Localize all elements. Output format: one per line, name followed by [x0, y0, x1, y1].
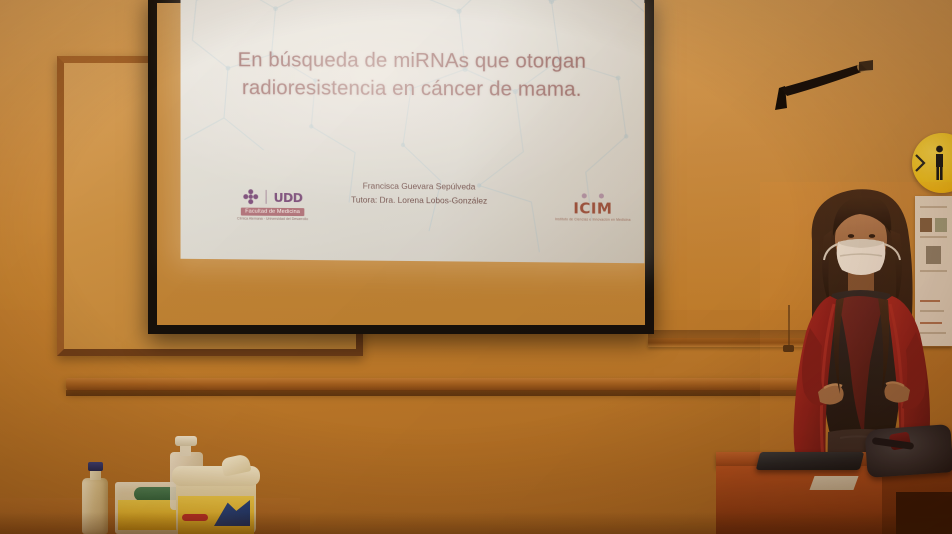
icim-subtitle: Instituto de Ciencias e Innovación en Me… — [555, 217, 631, 222]
icim-logo: ICIM Instituto de Ciencias e Innovación … — [562, 184, 625, 231]
backpack — [864, 424, 952, 478]
projector-screen: En búsqueda de miRNAs que otorgan radior… — [148, 0, 654, 334]
udd-wordmark: UDD — [273, 189, 302, 204]
sanitizer-pump-head — [175, 436, 197, 446]
udd-logo: UDD Facultad de Medicina Clínica Alemana… — [220, 184, 325, 227]
water-bottle-cap — [88, 462, 103, 471]
wipes-label-stripe — [182, 514, 208, 521]
projected-slide: En búsqueda de miRNAs que otorgan radior… — [181, 0, 645, 263]
icim-wordmark: ICIM — [573, 199, 612, 217]
closed-laptop — [756, 452, 864, 470]
udd-logo-row: UDD — [243, 189, 303, 205]
whiteboard-tray-edge — [66, 390, 806, 396]
udd-subtitle: Clínica Alemana · Universidad del Desarr… — [237, 217, 308, 222]
slide-credits: Francisca Guevara Sepúlveda Tutora: Dra.… — [299, 178, 539, 208]
icim-dot-right — [599, 193, 604, 198]
podium-front — [716, 466, 884, 534]
slide-title-line-2: radioresistencia en cáncer de mama. — [242, 76, 582, 101]
evacuation-person-icon — [933, 145, 946, 181]
slide-title-line-1: En búsqueda de miRNAs que otorgan — [238, 48, 587, 72]
arrow-right-icon — [914, 153, 926, 173]
slide-title: En búsqueda de miRNAs que otorgan radior… — [214, 46, 610, 104]
water-bottle — [82, 478, 108, 534]
paper-sheet — [809, 476, 858, 490]
udd-faculty-band: Facultad de Medicina — [241, 208, 304, 216]
icim-dot-left — [582, 193, 587, 198]
projector-mount-bracket-icon — [769, 58, 877, 118]
icim-dots-icon — [582, 193, 604, 198]
podium-shelf-recess — [896, 492, 952, 534]
slide-tutor: Tutora: Dra. Lorena Lobos-González — [299, 192, 539, 208]
udd-logo-divider — [266, 190, 267, 204]
udd-cross-icon — [243, 189, 259, 205]
lecture-hall-photo: En búsqueda de miRNAs que otorgan radior… — [0, 0, 952, 534]
